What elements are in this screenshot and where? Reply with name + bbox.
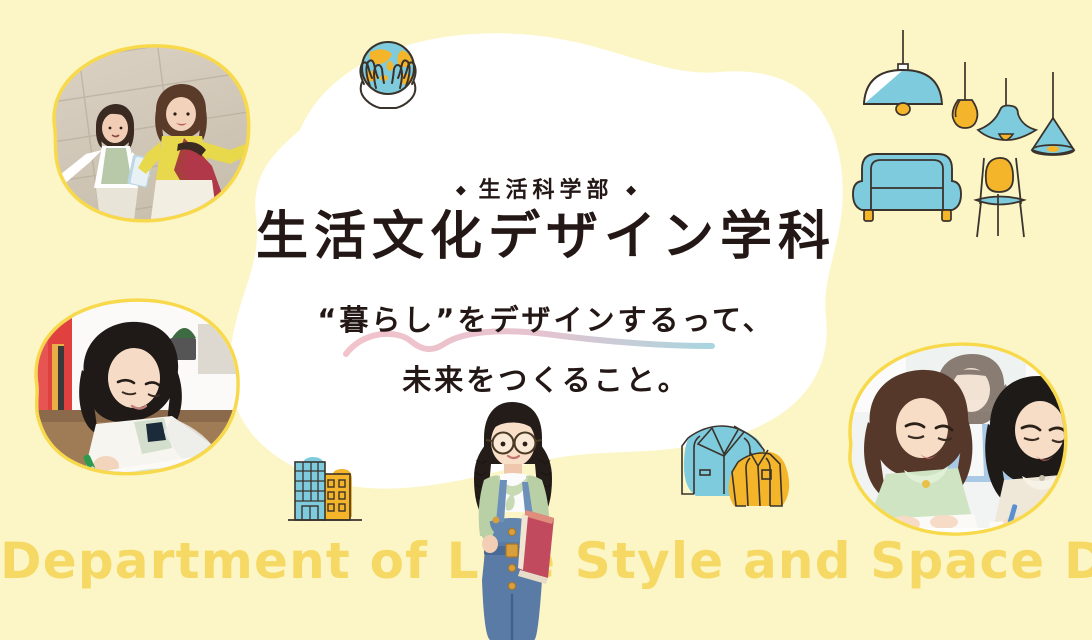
photo-students-in-classroom — [846, 332, 1082, 544]
photo-student-sketching — [22, 284, 250, 482]
jackets-icon — [668, 418, 792, 525]
underline-squiggle — [340, 326, 740, 362]
sofa-icon — [853, 154, 961, 221]
pendant-lamps-icon — [864, 30, 1074, 155]
globe-in-hands-icon — [340, 32, 436, 133]
buildings-icon — [282, 448, 368, 535]
hero-banner: Department of Life Style and Space Desig… — [0, 0, 1092, 640]
student-figure — [440, 398, 582, 640]
furniture-illustration-group — [838, 22, 1090, 251]
chair-icon — [976, 158, 1024, 237]
photo-two-students-welcoming — [34, 38, 256, 228]
